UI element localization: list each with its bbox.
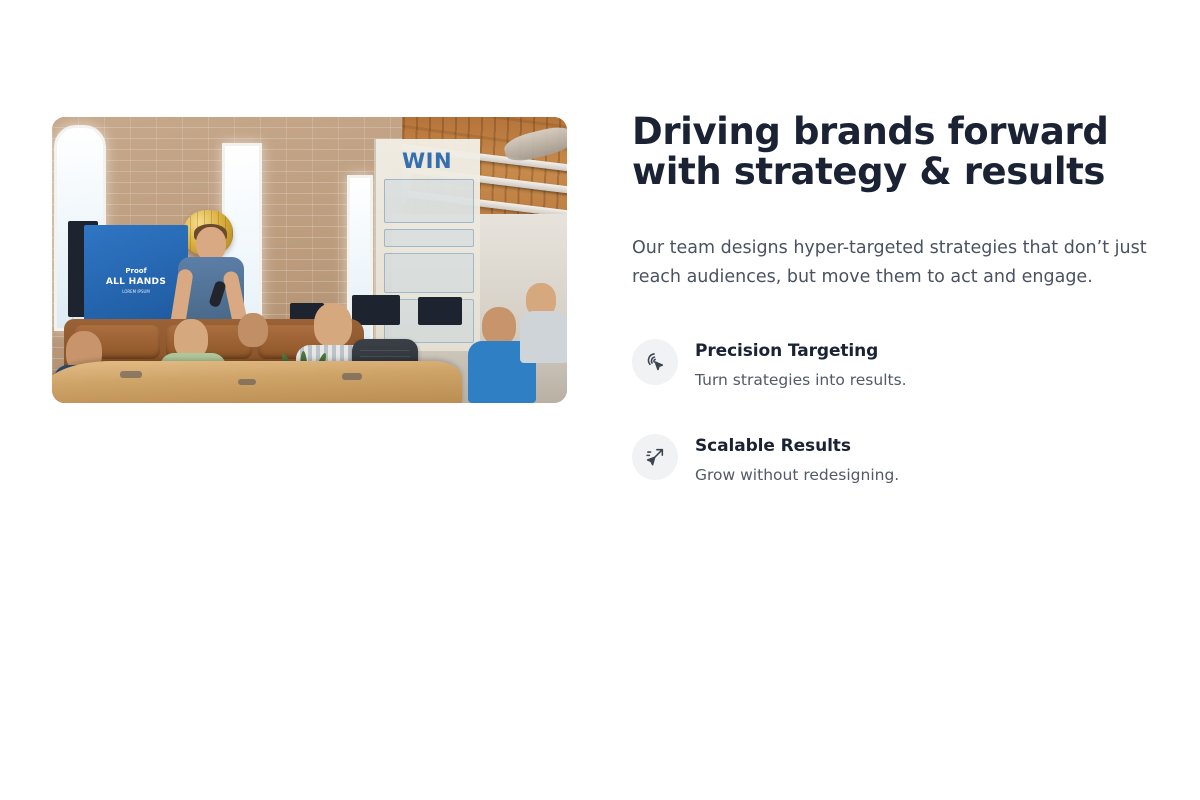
feature-text-block: Scalable Results Grow without redesignin… xyxy=(695,433,899,486)
poster-sketch xyxy=(384,253,474,293)
table-object xyxy=(238,379,256,385)
wooden-table xyxy=(52,361,462,403)
office-meeting-photo: WIN Proof ALL HANDS LOREM IPSUM xyxy=(52,117,567,403)
feature-title: Scalable Results xyxy=(695,435,899,457)
attendee-head xyxy=(238,313,268,347)
feature-section: WIN Proof ALL HANDS LOREM IPSUM xyxy=(0,0,1200,800)
expand-arrow-icon xyxy=(632,434,678,480)
headline-line-2: with strategy & results xyxy=(632,150,1105,193)
poster-sketch xyxy=(384,179,474,223)
feature-item-precision-targeting: Precision Targeting Turn strategies into… xyxy=(632,338,1152,391)
desk-monitor xyxy=(418,297,462,325)
table-object xyxy=(120,371,142,378)
feature-description: Grow without redesigning. xyxy=(695,465,899,486)
poster-title: WIN xyxy=(402,149,452,173)
feature-title: Precision Targeting xyxy=(695,340,907,362)
attendee-head xyxy=(482,307,516,345)
feature-image-card: WIN Proof ALL HANDS LOREM IPSUM xyxy=(52,117,567,403)
feature-description: Turn strategies into results. xyxy=(695,370,907,391)
page-title: Driving brands forward with strategy & r… xyxy=(632,112,1152,192)
section-subtitle: Our team designs hyper-targeted strategi… xyxy=(632,234,1148,292)
poster-sketch xyxy=(384,229,474,247)
desk-monitor xyxy=(352,295,400,325)
table-object xyxy=(342,373,362,380)
presenter-head xyxy=(196,227,226,261)
attendee-hair xyxy=(64,327,104,351)
feature-item-scalable-results: Scalable Results Grow without redesignin… xyxy=(632,433,1152,486)
headline-line-1: Driving brands forward xyxy=(632,110,1108,153)
attendee-body xyxy=(520,311,567,363)
cursor-click-icon xyxy=(632,339,678,385)
feature-content: Driving brands forward with strategy & r… xyxy=(632,112,1152,486)
feature-text-block: Precision Targeting Turn strategies into… xyxy=(695,338,907,391)
feature-list: Precision Targeting Turn strategies into… xyxy=(632,338,1152,486)
